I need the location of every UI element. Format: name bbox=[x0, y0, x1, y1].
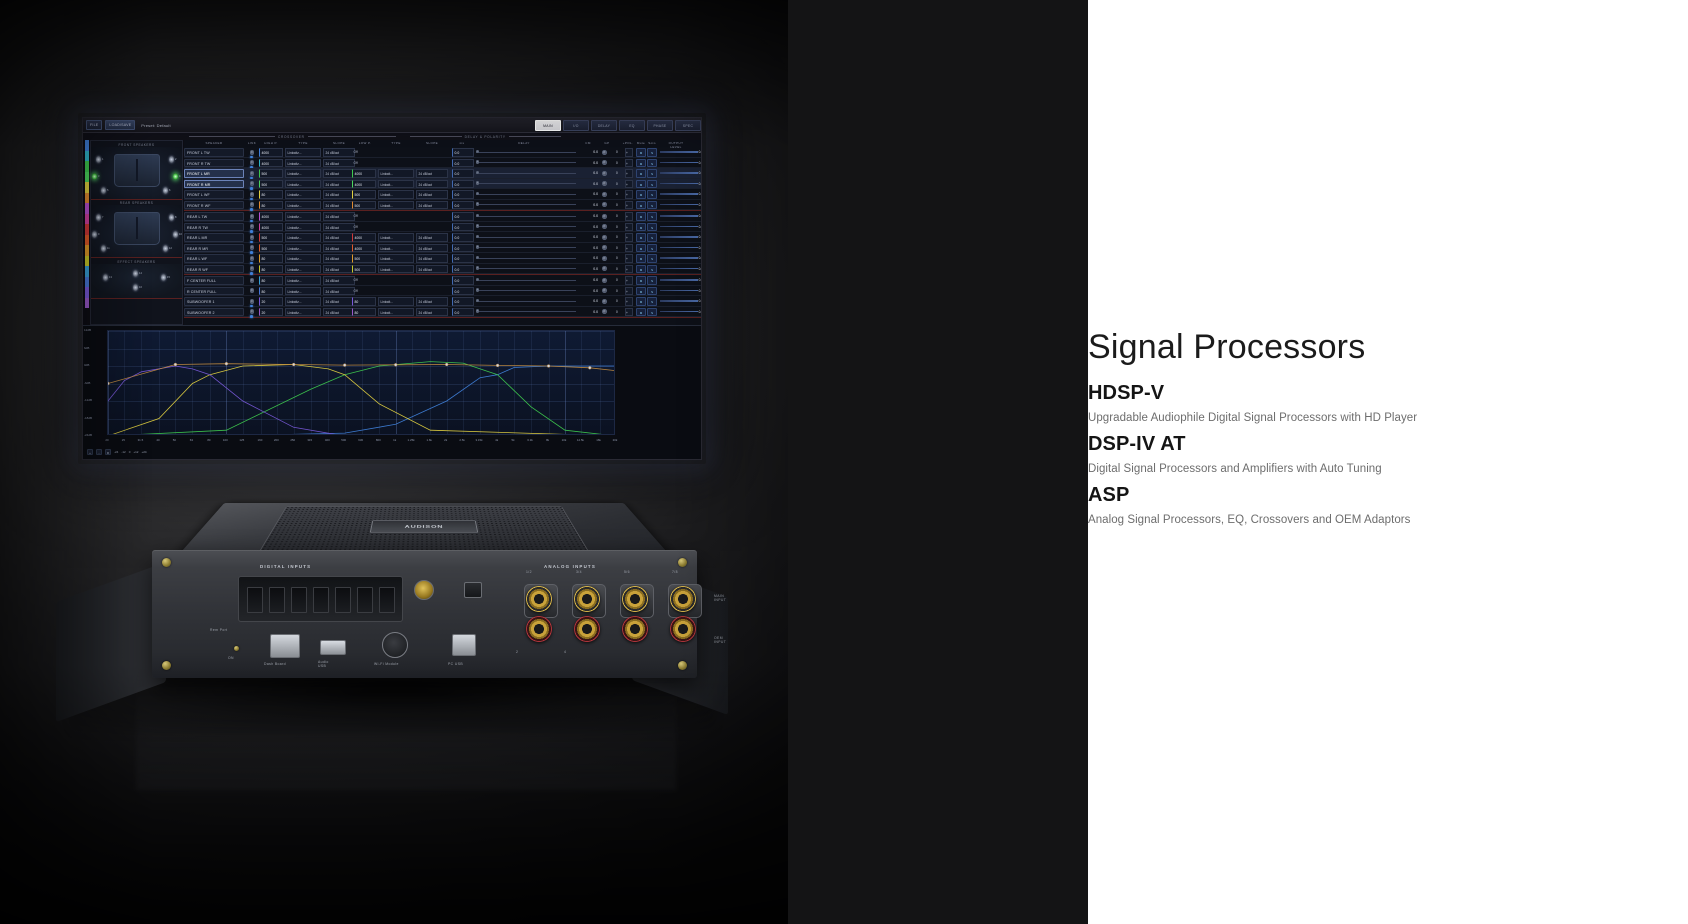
delay-slider[interactable] bbox=[476, 216, 576, 217]
solo-button[interactable]: S bbox=[647, 169, 657, 178]
mute-button[interactable]: M bbox=[636, 212, 646, 221]
low-pass-freq-input[interactable]: 80 bbox=[352, 297, 376, 306]
delay-slider[interactable] bbox=[476, 311, 576, 312]
rca-jack-white-icon[interactable] bbox=[670, 586, 696, 612]
curve-node-handle[interactable] bbox=[174, 363, 177, 366]
delay-ms-input[interactable]: 0.0 bbox=[452, 190, 474, 199]
speaker-name-cell[interactable]: FRONT L TW bbox=[184, 148, 244, 157]
table-row[interactable]: SUBWOOFER 120Linkwitz...24 dB/oct80Linkw… bbox=[184, 296, 702, 307]
high-pass-slope-select[interactable]: 24 dB/oct bbox=[323, 287, 355, 296]
table-row[interactable]: REAR R MR500Linkwitz...24 dB/oct4000Link… bbox=[184, 243, 702, 254]
low-pass-freq-input[interactable]: 4000 bbox=[352, 180, 376, 189]
solo-button[interactable]: S bbox=[647, 254, 657, 263]
group-knob-cell[interactable] bbox=[602, 254, 614, 263]
delay-slider[interactable] bbox=[476, 247, 576, 248]
rca-jack-white-icon[interactable] bbox=[622, 586, 648, 612]
low-pass-slope-select[interactable]: 24 dB/oct bbox=[416, 190, 448, 199]
speaker-name-cell[interactable]: FRONT R MR bbox=[184, 180, 244, 189]
low-pass-freq-input[interactable]: 80 bbox=[352, 308, 376, 317]
group-knob-icon[interactable] bbox=[602, 266, 607, 271]
delay-slider-handle[interactable] bbox=[476, 181, 479, 184]
delay-slider[interactable] bbox=[476, 183, 576, 184]
curve-node-handle[interactable] bbox=[547, 365, 550, 368]
delay-ms-input[interactable]: 0.0 bbox=[452, 276, 474, 285]
speaker-icon[interactable] bbox=[92, 173, 97, 180]
delay-slider-handle[interactable] bbox=[476, 160, 479, 163]
polarity-toggle[interactable]: + bbox=[625, 233, 633, 242]
high-pass-type-select[interactable]: Linkwitz... bbox=[285, 190, 321, 199]
delay-ms-input[interactable]: 0.0 bbox=[452, 254, 474, 263]
din-connector-icon[interactable] bbox=[382, 632, 408, 658]
table-row[interactable]: REAR L MR500Linkwitz...24 dB/oct4000Link… bbox=[184, 232, 702, 243]
low-pass-off-label[interactable]: Off bbox=[352, 148, 386, 157]
rca-jack-red-icon[interactable] bbox=[574, 616, 600, 642]
high-pass-slope-select[interactable]: 24 dB/oct bbox=[323, 308, 355, 317]
mute-button[interactable]: M bbox=[636, 308, 646, 317]
delay-slider-handle[interactable] bbox=[476, 288, 479, 291]
digital-input-bank[interactable] bbox=[238, 576, 403, 622]
group-knob-cell[interactable] bbox=[602, 180, 614, 189]
polarity-toggle[interactable]: + bbox=[625, 190, 633, 199]
delay-ms-input[interactable]: 0.0 bbox=[452, 169, 474, 178]
speaker-icon[interactable] bbox=[163, 245, 168, 252]
group-knob-cell[interactable] bbox=[602, 169, 614, 178]
delay-ms-input[interactable]: 0.0 bbox=[452, 297, 474, 306]
high-pass-slope-select[interactable]: 24 dB/oct bbox=[323, 169, 355, 178]
group-knob-cell[interactable] bbox=[602, 212, 614, 221]
delay-slider-handle[interactable] bbox=[476, 235, 479, 238]
polarity-toggle[interactable]: + bbox=[625, 169, 633, 178]
speaker-icon[interactable] bbox=[101, 245, 106, 252]
table-row[interactable]: FRONT R MR500Linkwitz...24 dB/oct4000Lin… bbox=[184, 179, 702, 190]
group-knob-icon[interactable] bbox=[602, 245, 607, 250]
high-pass-slope-select[interactable]: 24 dB/oct bbox=[323, 180, 355, 189]
speaker-name-cell[interactable]: REAR R TW bbox=[184, 223, 244, 232]
group-knob-cell[interactable] bbox=[602, 308, 614, 317]
solo-button[interactable]: S bbox=[647, 233, 657, 242]
group-knob-icon[interactable] bbox=[602, 235, 607, 240]
delay-ms-input[interactable]: 0.0 bbox=[452, 244, 474, 253]
high-pass-freq-input[interactable]: 4000 bbox=[259, 212, 283, 221]
low-pass-type-select[interactable]: Linkwit... bbox=[378, 297, 414, 306]
low-pass-freq-input[interactable]: 500 bbox=[352, 254, 376, 263]
delay-slider-handle[interactable] bbox=[476, 309, 479, 312]
high-pass-freq-input[interactable]: 20 bbox=[259, 297, 283, 306]
curve-node-handle[interactable] bbox=[292, 363, 295, 366]
link-knob-icon[interactable] bbox=[250, 256, 255, 261]
high-pass-slope-select[interactable]: 24 dB/oct bbox=[323, 276, 355, 285]
high-pass-freq-input[interactable]: 500 bbox=[259, 244, 283, 253]
link-knob-cell[interactable] bbox=[246, 276, 258, 285]
speaker-name-cell[interactable]: REAR L WF bbox=[184, 254, 244, 263]
group-knob-cell[interactable] bbox=[602, 287, 614, 296]
mute-button[interactable]: M bbox=[636, 190, 646, 199]
low-pass-slope-select[interactable]: 24 dB/oct bbox=[416, 265, 448, 274]
high-pass-slope-select[interactable]: 24 dB/oct bbox=[323, 201, 355, 210]
speaker-name-cell[interactable]: FRONT R WF bbox=[184, 201, 244, 210]
high-pass-type-select[interactable]: Linkwitz... bbox=[285, 297, 321, 306]
high-pass-type-select[interactable]: Linkwitz... bbox=[285, 244, 321, 253]
group-knob-icon[interactable] bbox=[602, 288, 607, 293]
low-pass-type-select[interactable]: Linkwit... bbox=[378, 308, 414, 317]
link-knob-icon[interactable] bbox=[250, 214, 255, 219]
optical-input-icon[interactable] bbox=[464, 582, 482, 598]
high-pass-freq-input[interactable]: 80 bbox=[259, 190, 283, 199]
digital-slot[interactable] bbox=[335, 587, 351, 613]
delay-slider-handle[interactable] bbox=[476, 192, 479, 195]
speaker-icon[interactable] bbox=[103, 274, 108, 281]
high-pass-type-select[interactable]: Linkwitz... bbox=[285, 212, 321, 221]
group-knob-icon[interactable] bbox=[602, 160, 607, 165]
low-pass-type-select[interactable]: Linkwit... bbox=[378, 244, 414, 253]
group-knob-icon[interactable] bbox=[602, 299, 607, 304]
high-pass-type-select[interactable]: Linkwitz... bbox=[285, 254, 321, 263]
polarity-toggle[interactable]: + bbox=[625, 265, 633, 274]
low-pass-freq-input[interactable]: 500 bbox=[352, 265, 376, 274]
speaker-icon[interactable] bbox=[173, 173, 178, 180]
group-knob-cell[interactable] bbox=[602, 223, 614, 232]
high-pass-freq-input[interactable]: 80 bbox=[259, 254, 283, 263]
low-pass-type-select[interactable]: Linkwit... bbox=[378, 254, 414, 263]
high-pass-slope-select[interactable]: 24 dB/oct bbox=[323, 159, 355, 168]
high-pass-freq-input[interactable]: 4000 bbox=[259, 148, 283, 157]
table-row[interactable]: SUBWOOFER 220Linkwitz...24 dB/oct80Linkw… bbox=[184, 307, 702, 318]
high-pass-type-select[interactable]: Linkwitz... bbox=[285, 169, 321, 178]
curve-node-handle[interactable] bbox=[394, 363, 397, 366]
curve-node-handle[interactable] bbox=[588, 366, 591, 369]
high-pass-type-select[interactable]: Linkwitz... bbox=[285, 287, 321, 296]
high-pass-slope-select[interactable]: 24 dB/oct bbox=[323, 223, 355, 232]
polarity-toggle[interactable]: + bbox=[625, 287, 633, 296]
low-pass-freq-input[interactable]: 4000 bbox=[352, 233, 376, 242]
link-knob-icon[interactable] bbox=[250, 288, 255, 293]
high-pass-freq-input[interactable]: 80 bbox=[259, 201, 283, 210]
link-knob-icon[interactable] bbox=[250, 192, 255, 197]
high-pass-freq-input[interactable]: 4000 bbox=[259, 223, 283, 232]
delay-ms-input[interactable]: 0.0 bbox=[452, 159, 474, 168]
high-pass-slope-select[interactable]: 24 dB/oct bbox=[323, 190, 355, 199]
table-row[interactable]: FRONT L WF80Linkwitz...24 dB/oct500Linkw… bbox=[184, 189, 702, 200]
high-pass-freq-input[interactable]: 500 bbox=[259, 169, 283, 178]
high-pass-type-select[interactable]: Linkwitz... bbox=[285, 276, 321, 285]
high-pass-slope-select[interactable]: 24 dB/oct bbox=[323, 265, 355, 274]
polarity-toggle[interactable]: + bbox=[625, 276, 633, 285]
group-knob-cell[interactable] bbox=[602, 148, 614, 157]
group-knob-cell[interactable] bbox=[602, 159, 614, 168]
solo-button[interactable]: S bbox=[647, 276, 657, 285]
mute-button[interactable]: M bbox=[636, 276, 646, 285]
high-pass-freq-input[interactable]: 500 bbox=[259, 233, 283, 242]
speaker-name-cell[interactable]: REAR L TW bbox=[184, 212, 244, 221]
curve-node-handle[interactable] bbox=[108, 382, 109, 385]
delay-slider-handle[interactable] bbox=[476, 171, 479, 174]
digital-slot[interactable] bbox=[247, 587, 263, 613]
solo-button[interactable]: S bbox=[647, 297, 657, 306]
delay-slider[interactable] bbox=[476, 194, 576, 195]
load-save-button[interactable]: LOAD/SAVE bbox=[105, 120, 135, 130]
link-knob-icon[interactable] bbox=[250, 266, 255, 271]
solo-button[interactable]: S bbox=[647, 308, 657, 317]
speaker-icon[interactable] bbox=[133, 284, 138, 291]
curve-node-handle[interactable] bbox=[343, 364, 346, 367]
solo-button[interactable]: S bbox=[647, 287, 657, 296]
delay-ms-input[interactable]: 0.0 bbox=[452, 148, 474, 157]
rem-port-icon[interactable] bbox=[234, 646, 239, 651]
group-knob-icon[interactable] bbox=[602, 224, 607, 229]
link-knob-icon[interactable] bbox=[250, 299, 255, 304]
low-pass-off-label[interactable]: Off bbox=[352, 223, 386, 232]
delay-ms-input[interactable]: 0.0 bbox=[452, 180, 474, 189]
delay-slider-handle[interactable] bbox=[476, 299, 479, 302]
low-pass-off-label[interactable]: Off bbox=[352, 159, 386, 168]
speaker-name-cell[interactable]: FRONT L MR bbox=[184, 169, 244, 178]
low-pass-off-label[interactable]: Off bbox=[352, 287, 386, 296]
tab-phase[interactable]: PHASE bbox=[647, 120, 673, 131]
link-knob-icon[interactable] bbox=[250, 309, 255, 314]
mute-button[interactable]: M bbox=[636, 254, 646, 263]
group-knob-icon[interactable] bbox=[602, 214, 607, 219]
polarity-toggle[interactable]: + bbox=[625, 159, 633, 168]
group-knob-cell[interactable] bbox=[602, 265, 614, 274]
high-pass-slope-select[interactable]: 24 dB/oct bbox=[323, 212, 355, 221]
high-pass-type-select[interactable]: Linkwitz... bbox=[285, 180, 321, 189]
group-knob-cell[interactable] bbox=[602, 201, 614, 210]
high-pass-freq-input[interactable]: 500 bbox=[259, 180, 283, 189]
delay-slider-handle[interactable] bbox=[476, 266, 479, 269]
polarity-toggle[interactable]: + bbox=[625, 297, 633, 306]
delay-ms-input[interactable]: 0.0 bbox=[452, 212, 474, 221]
link-knob-icon[interactable] bbox=[250, 278, 255, 283]
speaker-name-cell[interactable]: F CENTER FULL bbox=[184, 276, 244, 285]
delay-slider[interactable] bbox=[476, 173, 576, 174]
table-row[interactable]: FRONT L TW4000Linkwitz...24 dB/octOff0.0… bbox=[184, 147, 702, 158]
delay-slider[interactable] bbox=[476, 237, 576, 238]
delay-slider[interactable] bbox=[476, 290, 576, 291]
low-pass-slope-select[interactable]: 24 dB/oct bbox=[416, 297, 448, 306]
solo-button[interactable]: S bbox=[647, 180, 657, 189]
low-pass-type-select[interactable]: Linkwit... bbox=[378, 201, 414, 210]
speaker-icon[interactable] bbox=[101, 187, 106, 194]
link-knob-icon[interactable] bbox=[250, 171, 255, 176]
rca-jack-red-icon[interactable] bbox=[670, 616, 696, 642]
response-plot[interactable] bbox=[107, 330, 615, 435]
low-pass-slope-select[interactable]: 24 dB/oct bbox=[416, 244, 448, 253]
group-knob-icon[interactable] bbox=[602, 202, 607, 207]
digital-slot[interactable] bbox=[269, 587, 285, 613]
file-menu-button[interactable]: FILE bbox=[86, 120, 102, 130]
delay-ms-input[interactable]: 0.0 bbox=[452, 287, 474, 296]
polarity-toggle[interactable]: + bbox=[625, 148, 633, 157]
low-pass-freq-input[interactable]: 4000 bbox=[352, 244, 376, 253]
link-knob-icon[interactable] bbox=[250, 245, 255, 250]
high-pass-slope-select[interactable]: 24 dB/oct bbox=[323, 244, 355, 253]
speaker-icon[interactable] bbox=[92, 231, 97, 238]
high-pass-type-select[interactable]: Linkwitz... bbox=[285, 159, 321, 168]
delay-slider[interactable] bbox=[476, 268, 576, 269]
table-row[interactable]: FRONT R WF80Linkwitz...24 dB/oct500Linkw… bbox=[184, 200, 702, 211]
low-pass-off-label[interactable]: Off bbox=[352, 212, 386, 221]
tab-main[interactable]: MAIN bbox=[535, 120, 561, 131]
tab-spec[interactable]: SPEC bbox=[675, 120, 701, 131]
table-row[interactable]: F CENTER FULL80Linkwitz...24 dB/octOff0.… bbox=[184, 275, 702, 286]
low-pass-slope-select[interactable]: 24 dB/oct bbox=[416, 233, 448, 242]
high-pass-slope-select[interactable]: 24 dB/oct bbox=[323, 233, 355, 242]
low-pass-type-select[interactable]: Linkwit... bbox=[378, 180, 414, 189]
digital-slot[interactable] bbox=[357, 587, 373, 613]
link-knob-icon[interactable] bbox=[250, 160, 255, 165]
digital-slot[interactable] bbox=[291, 587, 307, 613]
high-pass-freq-input[interactable]: 80 bbox=[259, 276, 283, 285]
delay-slider[interactable] bbox=[476, 152, 576, 153]
delay-slider[interactable] bbox=[476, 258, 576, 259]
speaker-name-cell[interactable]: REAR R MR bbox=[184, 244, 244, 253]
low-pass-type-select[interactable]: Linkwit... bbox=[378, 169, 414, 178]
delay-slider-handle[interactable] bbox=[476, 202, 479, 205]
speaker-name-cell[interactable]: SUBWOOFER 1 bbox=[184, 297, 244, 306]
solo-button[interactable]: S bbox=[647, 190, 657, 199]
solo-button[interactable]: S bbox=[647, 223, 657, 232]
mute-button[interactable]: M bbox=[636, 201, 646, 210]
table-row[interactable]: REAR L TW4000Linkwitz...24 dB/octOff0.00… bbox=[184, 211, 702, 222]
speaker-icon[interactable] bbox=[133, 270, 138, 277]
delay-slider-handle[interactable] bbox=[476, 224, 479, 227]
high-pass-freq-input[interactable]: 80 bbox=[259, 265, 283, 274]
mute-button[interactable]: M bbox=[636, 180, 646, 189]
solo-button[interactable]: S bbox=[647, 265, 657, 274]
group-knob-cell[interactable] bbox=[602, 276, 614, 285]
delay-slider-handle[interactable] bbox=[476, 214, 479, 217]
table-row[interactable]: REAR L WF80Linkwitz...24 dB/oct500Linkwi… bbox=[184, 253, 702, 264]
speaker-name-cell[interactable]: FRONT L WF bbox=[184, 190, 244, 199]
group-knob-icon[interactable] bbox=[602, 278, 607, 283]
low-pass-slope-select[interactable]: 24 dB/oct bbox=[416, 180, 448, 189]
speaker-icon[interactable] bbox=[96, 214, 101, 221]
low-pass-slope-select[interactable]: 24 dB/oct bbox=[416, 169, 448, 178]
low-pass-slope-select[interactable]: 24 dB/oct bbox=[416, 254, 448, 263]
tab-io[interactable]: I/O bbox=[563, 120, 589, 131]
group-knob-cell[interactable] bbox=[602, 233, 614, 242]
usb-b-port-icon[interactable] bbox=[452, 634, 476, 656]
low-pass-off-label[interactable]: Off bbox=[352, 276, 386, 285]
low-pass-freq-input[interactable]: 500 bbox=[352, 201, 376, 210]
table-row[interactable]: FRONT R TW4000Linkwitz...24 dB/octOff0.0… bbox=[184, 158, 702, 169]
mute-button[interactable]: M bbox=[636, 169, 646, 178]
coax-input-icon[interactable] bbox=[414, 580, 434, 600]
delay-slider[interactable] bbox=[476, 301, 576, 302]
polarity-toggle[interactable]: + bbox=[625, 212, 633, 221]
mute-button[interactable]: M bbox=[636, 287, 646, 296]
delay-slider-handle[interactable] bbox=[476, 278, 479, 281]
solo-button[interactable]: S bbox=[647, 148, 657, 157]
table-row[interactable]: REAR R WF80Linkwitz...24 dB/oct500Linkwi… bbox=[184, 264, 702, 275]
delay-ms-input[interactable]: 0.0 bbox=[452, 223, 474, 232]
link-knob-icon[interactable] bbox=[250, 224, 255, 229]
solo-button[interactable]: S bbox=[647, 244, 657, 253]
mute-button[interactable]: M bbox=[636, 265, 646, 274]
high-pass-type-select[interactable]: Linkwitz... bbox=[285, 148, 321, 157]
rca-jack-red-icon[interactable] bbox=[526, 616, 552, 642]
curve-node-handle[interactable] bbox=[225, 362, 228, 365]
speaker-icon[interactable] bbox=[163, 187, 168, 194]
speaker-icon[interactable] bbox=[169, 156, 174, 163]
delay-ms-input[interactable]: 0.0 bbox=[452, 265, 474, 274]
high-pass-freq-input[interactable]: 20 bbox=[259, 308, 283, 317]
rca-jack-red-icon[interactable] bbox=[622, 616, 648, 642]
low-pass-slope-select[interactable]: 24 dB/oct bbox=[416, 308, 448, 317]
polarity-toggle[interactable]: + bbox=[625, 223, 633, 232]
solo-button[interactable]: S bbox=[647, 159, 657, 168]
rca-jack-white-icon[interactable] bbox=[526, 586, 552, 612]
ethernet-port-icon[interactable] bbox=[270, 634, 300, 658]
delay-slider-handle[interactable] bbox=[476, 256, 479, 259]
speaker-name-cell[interactable]: REAR L MR bbox=[184, 233, 244, 242]
low-pass-type-select[interactable]: Linkwit... bbox=[378, 190, 414, 199]
low-pass-freq-input[interactable]: 500 bbox=[352, 190, 376, 199]
speaker-name-cell[interactable]: REAR R WF bbox=[184, 265, 244, 274]
delay-ms-input[interactable]: 0.0 bbox=[452, 233, 474, 242]
high-pass-type-select[interactable]: Linkwitz... bbox=[285, 201, 321, 210]
group-knob-icon[interactable] bbox=[602, 256, 607, 261]
high-pass-freq-input[interactable]: 4000 bbox=[259, 159, 283, 168]
polarity-toggle[interactable]: + bbox=[625, 308, 633, 317]
group-knob-icon[interactable] bbox=[602, 309, 607, 314]
table-row[interactable]: R CENTER FULL80Linkwitz...24 dB/octOff0.… bbox=[184, 286, 702, 297]
table-row[interactable]: FRONT L MR500Linkwitz...24 dB/oct4000Lin… bbox=[184, 168, 702, 179]
polarity-toggle[interactable]: + bbox=[625, 244, 633, 253]
mute-button[interactable]: M bbox=[636, 223, 646, 232]
group-knob-cell[interactable] bbox=[602, 190, 614, 199]
delay-slider[interactable] bbox=[476, 204, 576, 205]
link-knob-icon[interactable] bbox=[250, 181, 255, 186]
high-pass-type-select[interactable]: Linkwitz... bbox=[285, 223, 321, 232]
delay-slider-handle[interactable] bbox=[476, 150, 479, 153]
mute-button[interactable]: M bbox=[636, 297, 646, 306]
solo-button[interactable]: S bbox=[647, 201, 657, 210]
solo-button[interactable]: S bbox=[647, 212, 657, 221]
low-pass-type-select[interactable]: Linkwit... bbox=[378, 265, 414, 274]
group-knob-icon[interactable] bbox=[602, 181, 607, 186]
high-pass-type-select[interactable]: Linkwitz... bbox=[285, 265, 321, 274]
polarity-toggle[interactable]: + bbox=[625, 180, 633, 189]
delay-slider[interactable] bbox=[476, 162, 576, 163]
low-pass-slope-select[interactable]: 24 dB/oct bbox=[416, 201, 448, 210]
link-knob-icon[interactable] bbox=[250, 150, 255, 155]
speaker-name-cell[interactable]: FRONT R TW bbox=[184, 159, 244, 168]
mute-button[interactable]: M bbox=[636, 159, 646, 168]
high-pass-slope-select[interactable]: 24 dB/oct bbox=[323, 297, 355, 306]
speaker-icon[interactable] bbox=[161, 274, 166, 281]
polarity-toggle[interactable]: + bbox=[625, 201, 633, 210]
delay-ms-input[interactable]: 0.0 bbox=[452, 201, 474, 210]
polarity-toggle[interactable]: + bbox=[625, 254, 633, 263]
link-knob-icon[interactable] bbox=[250, 202, 255, 207]
delay-slider-handle[interactable] bbox=[476, 245, 479, 248]
group-knob-cell[interactable] bbox=[602, 297, 614, 306]
speaker-icon[interactable] bbox=[96, 156, 101, 163]
group-knob-icon[interactable] bbox=[602, 192, 607, 197]
mute-button[interactable]: M bbox=[636, 148, 646, 157]
low-pass-type-select[interactable]: Linkwit... bbox=[378, 233, 414, 242]
low-pass-freq-input[interactable]: 4000 bbox=[352, 169, 376, 178]
tab-delay[interactable]: DELAY bbox=[591, 120, 617, 131]
link-knob-icon[interactable] bbox=[250, 235, 255, 240]
tab-eq[interactable]: EQ bbox=[619, 120, 645, 131]
digital-slot[interactable] bbox=[379, 587, 395, 613]
usb-a-port-icon[interactable] bbox=[320, 640, 346, 655]
speaker-icon[interactable] bbox=[173, 231, 178, 238]
mute-button[interactable]: M bbox=[636, 233, 646, 242]
group-knob-cell[interactable] bbox=[602, 244, 614, 253]
